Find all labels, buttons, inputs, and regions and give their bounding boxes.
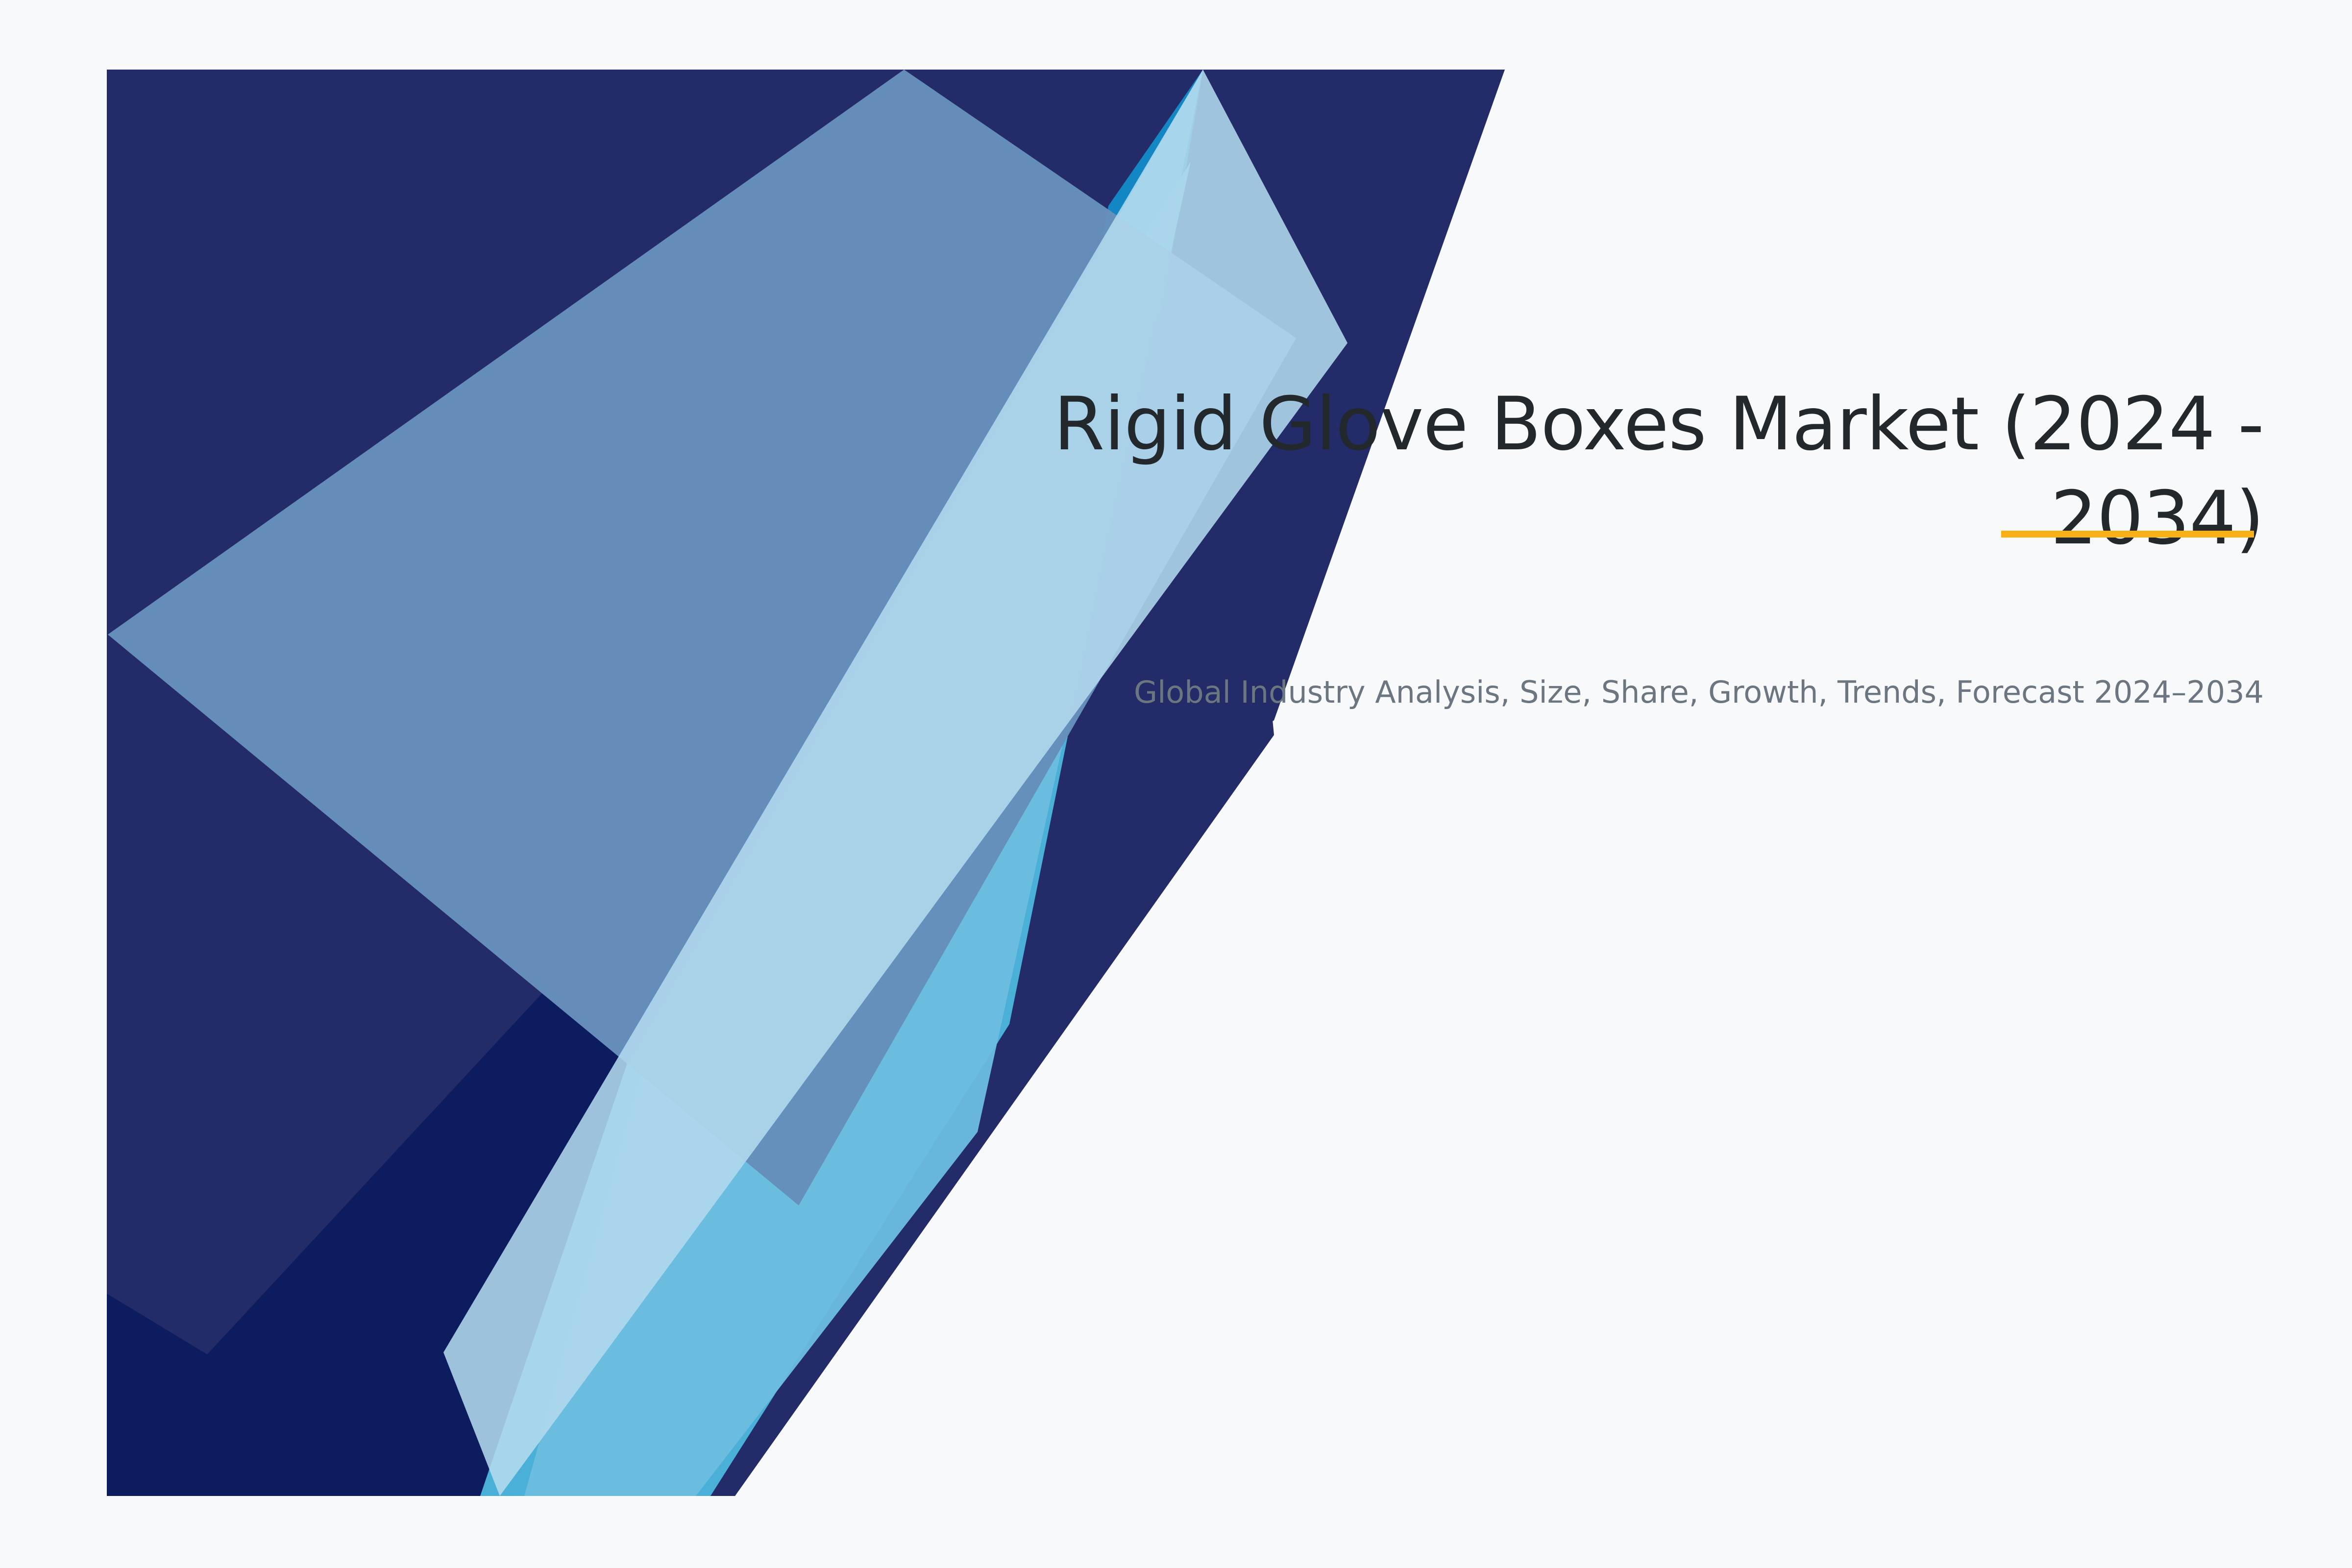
accent-underline: [2001, 531, 2254, 538]
cover-artwork: [0, 0, 2352, 1568]
title-block: Rigid Glove Boxes Market (2024 - 2034) G…: [980, 377, 2264, 714]
page-subtitle: Global Industry Analysis, Size, Share, G…: [980, 565, 2264, 714]
slide-canvas: Rigid Glove Boxes Market (2024 - 2034) G…: [0, 0, 2352, 1568]
